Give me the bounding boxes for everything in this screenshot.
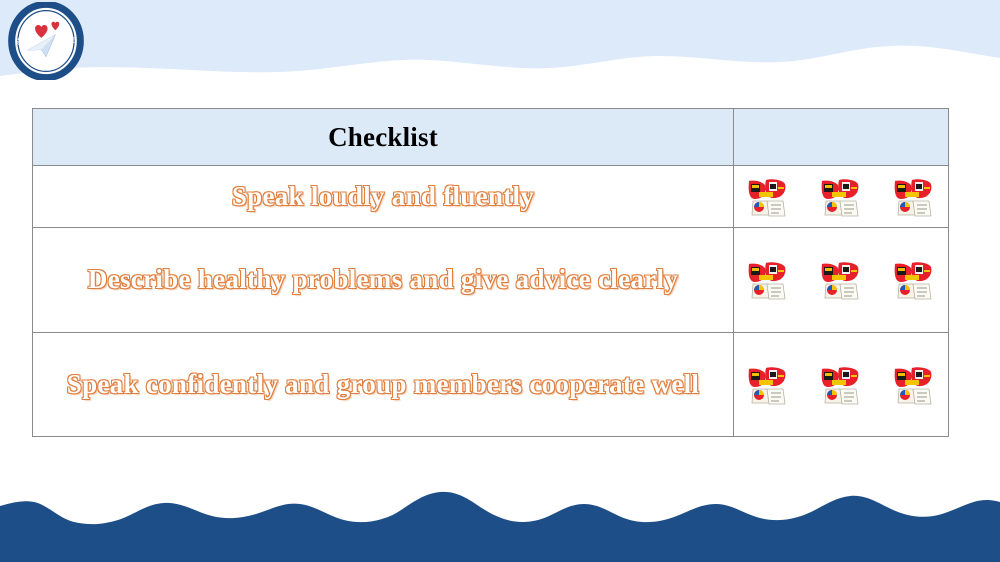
page-title: Checklist [33, 122, 733, 153]
table-row: Speak confidently and group members coop… [33, 333, 949, 437]
flag-card-icon[interactable] [891, 258, 937, 302]
header-cell-criteria: Checklist [33, 109, 734, 166]
criteria-cell-3: Speak confidently and group members coop… [33, 333, 734, 437]
flag-card-icon[interactable] [745, 363, 791, 407]
rating-cell-3 [734, 333, 949, 437]
flag-card-icon[interactable] [818, 258, 864, 302]
rating-icon-group-3 [734, 363, 948, 407]
rating-cell-1 [734, 166, 949, 228]
checklist-table: Checklist Speak loudly and fluently [32, 108, 949, 437]
top-wave-decoration [0, 0, 1000, 92]
criteria-cell-2: Describe healthy problems and give advic… [33, 228, 734, 333]
table-header-row: Checklist [33, 109, 949, 166]
criteria-text-3: Speak confidently and group members coop… [33, 365, 733, 404]
criteria-cell-1: Speak loudly and fluently [33, 166, 734, 228]
table-row: Speak loudly and fluently [33, 166, 949, 228]
flag-card-icon[interactable] [891, 175, 937, 219]
school-badge-logo: Happily Crazily Successfully 高雄市鳳梁國小特色教學… [7, 2, 85, 80]
flag-card-icon[interactable] [891, 363, 937, 407]
header-cell-rating [734, 109, 949, 166]
rating-cell-2 [734, 228, 949, 333]
rating-icon-group-2 [734, 258, 948, 302]
bottom-wave-decoration [0, 462, 1000, 562]
criteria-text-1: Speak loudly and fluently [33, 177, 733, 216]
criteria-text-2: Describe healthy problems and give advic… [33, 260, 733, 299]
flag-card-icon[interactable] [745, 258, 791, 302]
rating-icon-group-1 [734, 175, 948, 219]
flag-card-icon[interactable] [818, 175, 864, 219]
table-row: Describe healthy problems and give advic… [33, 228, 949, 333]
flag-card-icon[interactable] [818, 363, 864, 407]
flag-card-icon[interactable] [745, 175, 791, 219]
